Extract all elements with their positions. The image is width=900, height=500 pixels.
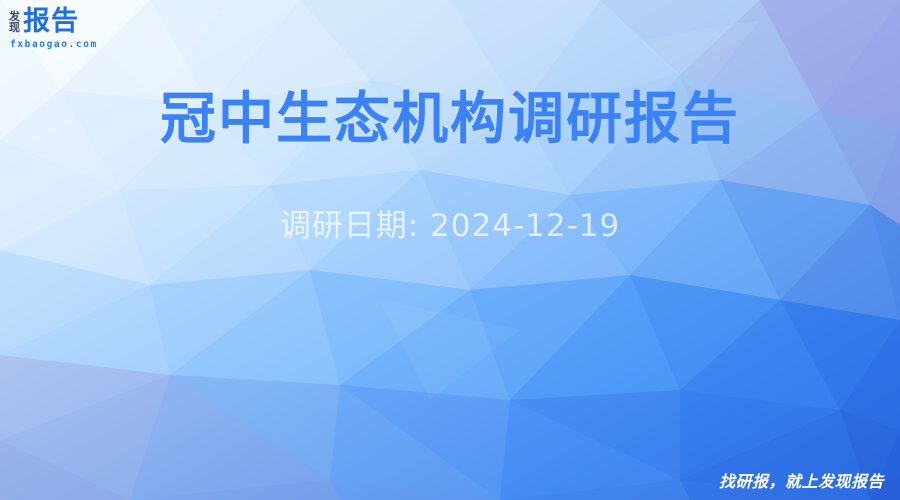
logo-domain-text: fxbaogao.com [10,39,98,50]
logo-char-xian: 现 [9,22,20,33]
logo-stacked-chars: 发 现 [9,11,20,35]
logo-wordmark-block: 发 现 报告 [9,8,79,35]
logo-wordmark: 报告 [23,8,79,35]
footer-watermark: 找研报，就上发现报告 [719,468,884,492]
report-cover-slide: 发 现 报告 fxbaogao.com 冠中生态机构调研报告 调研日期: 202… [0,0,900,500]
background-polygon-mesh [0,0,900,500]
fxbaogao-logo[interactable]: 发 现 报告 fxbaogao.com [9,8,79,35]
